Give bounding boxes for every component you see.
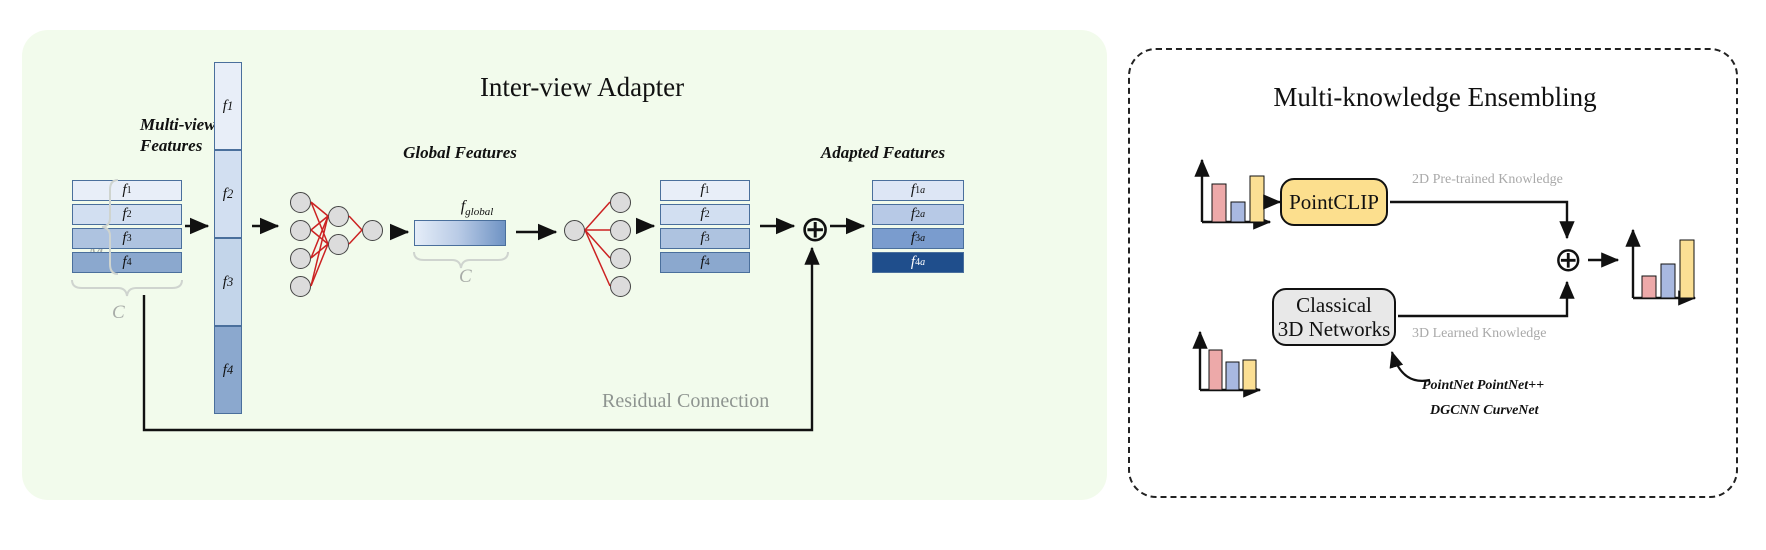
mlp-node-out [362,220,383,241]
concat-cell-2: f2 [214,150,242,238]
dim-label-c-global: C [459,266,472,288]
networks-row-2: DGCNN CurveNet [1430,403,1539,419]
mlp-node-in-2 [290,220,311,241]
networks-row-1: PointNet PointNet++ [1422,378,1544,394]
reconstructed-feature-box-4: f4 [660,252,750,273]
multiview-feature-box-4: f4 [72,252,182,273]
inter-view-adapter-title: Inter-view Adapter [480,72,684,103]
multiview-feature-box-2: f2 [72,204,182,225]
decoder-node-in [564,220,585,241]
decoder-node-out-2 [610,220,631,241]
concat-cell-1: f1 [214,62,242,150]
reconstructed-feature-box-3: f3 [660,228,750,249]
classical-box-line1: Classical [1296,293,1372,317]
pointclip-box[interactable]: PointCLIP [1280,178,1388,226]
concat-cell-4: f4 [214,326,242,414]
pointclip-box-label: PointCLIP [1289,190,1379,214]
reconstructed-feature-box-1: f1 [660,180,750,201]
diagram-root: Inter-view Adapter Multi-view Features G… [0,0,1766,550]
inter-view-adapter-panel: Inter-view Adapter Multi-view Features G… [22,30,1107,500]
classical-3d-networks-box[interactable]: Classical 3D Networks [1272,288,1396,346]
classical-box-line2: 3D Networks [1278,317,1391,341]
adapted-features-label: Adapted Features [821,142,945,163]
residual-sum-icon: ⊕ [800,212,830,248]
mlp-node-in-1 [290,192,311,213]
reconstructed-feature-box-2: f2 [660,204,750,225]
multiview-feature-box-3: f3 [72,228,182,249]
multi-knowledge-title: Multi-knowledge Ensembling [1273,82,1596,113]
mlp-node-hidden-1 [328,206,349,227]
decoder-node-out-4 [610,276,631,297]
global-features-label: Global Features [403,142,517,163]
multiview-feature-box-1: f1 [72,180,182,201]
mlp-node-in-3 [290,248,311,269]
adapted-feature-box-2: f2a [872,204,964,225]
ensembling-sum-icon: ⊕ [1554,243,1583,277]
global-feature-bar [414,220,506,246]
knowledge-2d-label: 2D Pre-trained Knowledge [1412,172,1563,188]
adapted-feature-box-1: f1a [872,180,964,201]
residual-connection-label: Residual Connection [602,390,769,413]
adapted-feature-box-3: f3a [872,228,964,249]
knowledge-3d-label: 3D Learned Knowledge [1412,326,1547,342]
adapted-feature-box-4: f4a [872,252,964,273]
f-global-label: fglobal [461,198,494,218]
decoder-node-out-3 [610,248,631,269]
dim-label-c-left: C [112,302,125,324]
decoder-node-out-1 [610,192,631,213]
mlp-node-in-4 [290,276,311,297]
concat-cell-3: f3 [214,238,242,326]
right-panel-connectors [1130,50,1740,500]
multi-knowledge-ensembling-panel: Multi-knowledge Ensembling PointCLIP Cla… [1128,48,1738,498]
mlp-node-hidden-2 [328,234,349,255]
